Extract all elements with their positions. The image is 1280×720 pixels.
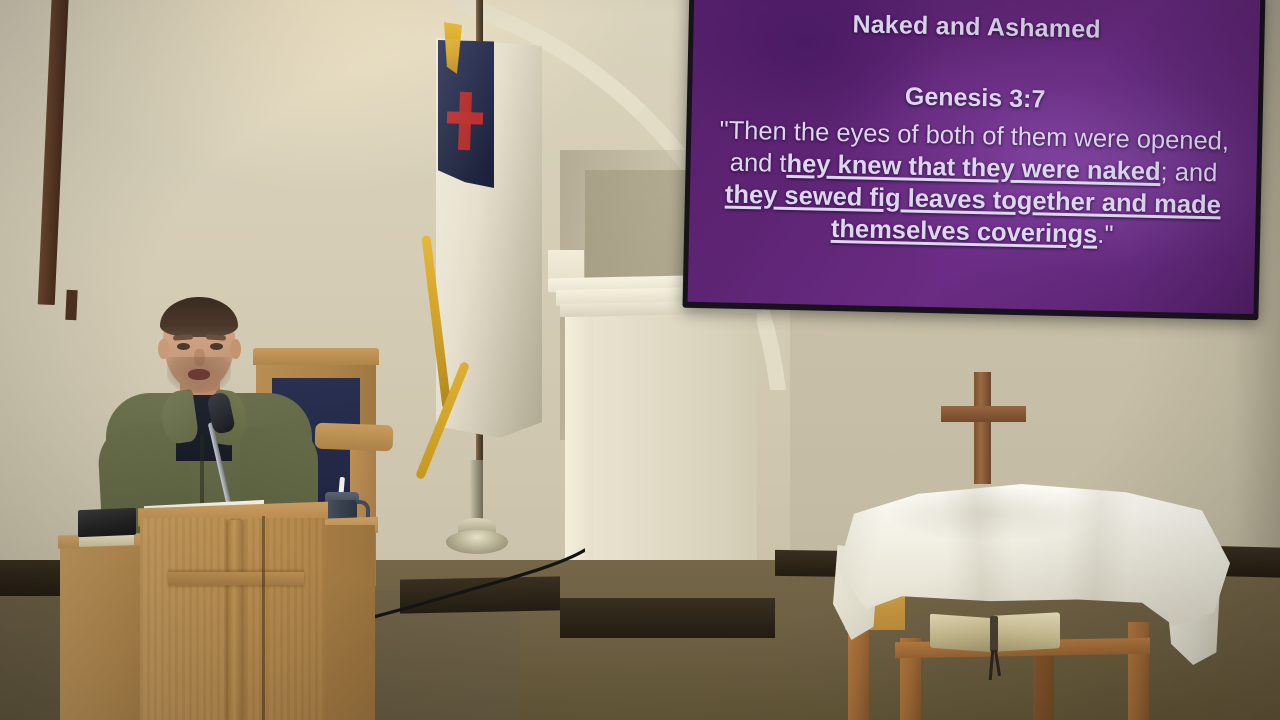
wooden-cross-horizontal [941, 406, 1026, 422]
slide-scripture-reference: Genesis 3:7 [692, 78, 1258, 119]
verse-plain: ." [1097, 220, 1114, 248]
verse-plain: ; and [1160, 158, 1217, 187]
pulpit-cross-vertical [228, 520, 243, 720]
projection-screen[interactable]: Naked and Ashamed Genesis 3:7 "Then the … [682, 0, 1265, 320]
bible-left-page [930, 614, 994, 652]
table-leg-front-right [1128, 622, 1149, 720]
pulpit-bible [78, 508, 136, 538]
pulpit-seam [262, 516, 265, 720]
baseboard-column [560, 598, 775, 638]
open-bible [930, 612, 1060, 652]
verse-emphasis: hey knew that they were naked [786, 150, 1161, 186]
baseboard-mid [400, 576, 560, 613]
slide-content: Naked and Ashamed Genesis 3:7 "Then the … [689, 7, 1260, 255]
wooden-cross-vertical [974, 372, 991, 484]
bible-spine [990, 616, 998, 652]
flag-stand-base [446, 530, 508, 554]
wall-trim-tip [65, 290, 77, 320]
preacher-hair [160, 297, 238, 337]
preacher-eye-left [177, 343, 190, 350]
verse-emphasis: they sewed fig leaves together and made … [725, 180, 1221, 248]
pulpit-cross-horizontal [168, 572, 304, 585]
preacher-ear-right [230, 339, 241, 359]
bible-right-page [994, 612, 1060, 651]
slide-title: Naked and Ashamed [693, 7, 1259, 48]
screen-surface: Naked and Ashamed Genesis 3:7 "Then the … [688, 0, 1261, 314]
preacher-ear-left [158, 339, 169, 359]
flag-shading [436, 38, 542, 438]
preacher-eye-right [210, 343, 223, 350]
sermon-video-frame: Naked and Ashamed Genesis 3:7 "Then the … [0, 0, 1280, 720]
slide-verse-text: "Then the eyes of both of them were open… [689, 115, 1258, 255]
preacher-mouth [188, 369, 210, 380]
